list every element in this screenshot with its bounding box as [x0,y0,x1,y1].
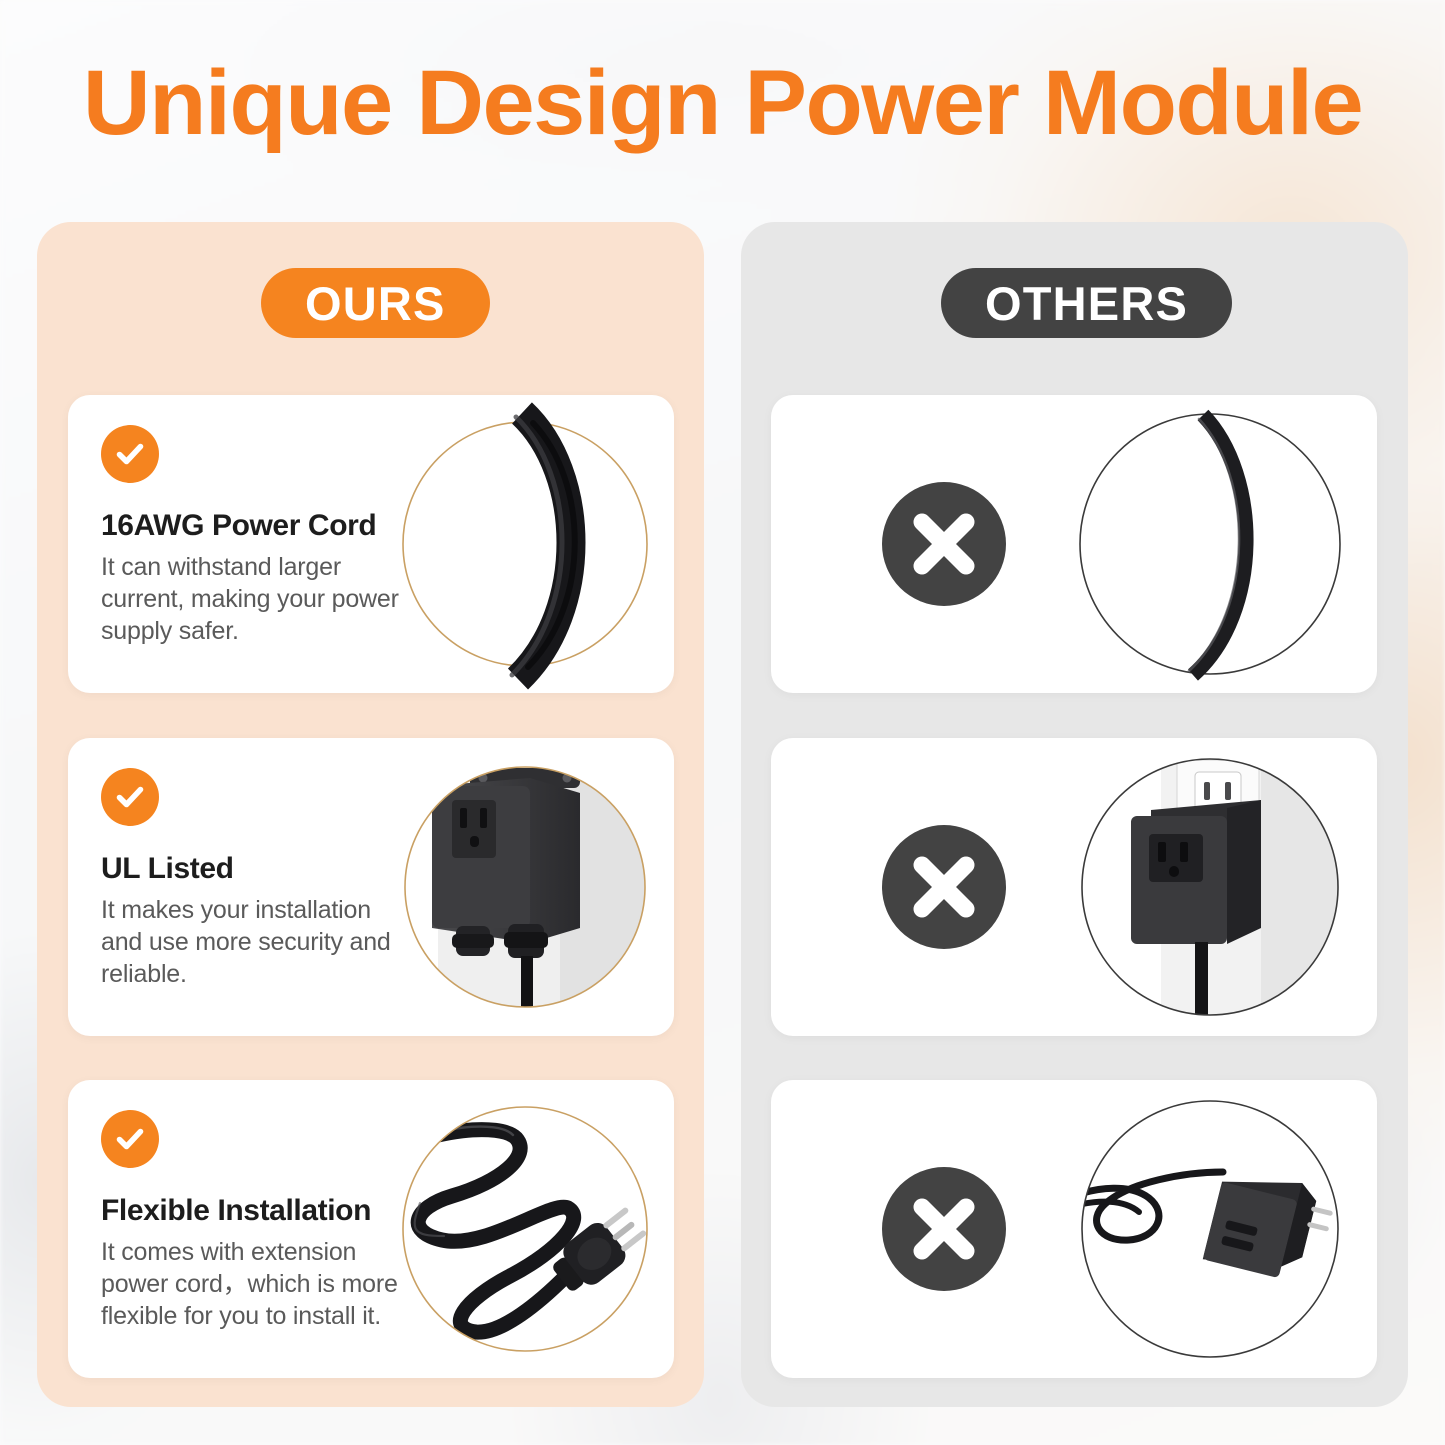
check-icon [101,425,159,483]
others-feature-card-1 [771,395,1377,693]
page-title: Unique Design Power Module [0,55,1445,152]
others-badge: OTHERS [941,268,1232,338]
check-icon [101,768,159,826]
others-badge-label: OTHERS [985,276,1188,331]
feature-text-block: Flexible Installation It comes with exte… [101,1110,411,1332]
cross-icon [882,825,1006,949]
feature-description: It can withstand larger current, making … [101,552,411,647]
cross-icon [882,482,1006,606]
feature-title: 16AWG Power Cord [101,509,411,543]
feature-title: UL Listed [101,852,411,886]
coiled-extension-cord-with-plug-image [390,1080,660,1378]
black-weatherproof-outlet-box-image [390,738,660,1036]
black-adapter-in-wall-outlet-image [1065,738,1355,1036]
feature-description: It comes with extension power cord，which… [101,1237,411,1332]
ours-feature-card-3: Flexible Installation It comes with exte… [68,1080,674,1378]
feature-text-block: 16AWG Power Cord It can withstand larger… [101,425,411,647]
others-feature-card-2 [771,738,1377,1036]
feature-title: Flexible Installation [101,1194,411,1228]
cross-icon [882,1167,1006,1291]
short-cord-plug-adapter-image [1065,1080,1355,1378]
feature-text-block: UL Listed It makes your installation and… [101,768,411,990]
ours-feature-card-1: 16AWG Power Cord It can withstand larger… [68,395,674,693]
thin-black-power-cord-image [1065,395,1355,693]
ours-badge-label: OURS [305,276,446,331]
feature-description: It makes your installation and use more … [101,895,411,990]
ours-badge: OURS [261,268,490,338]
ours-feature-card-2: UL Listed It makes your installation and… [68,738,674,1036]
others-feature-card-3 [771,1080,1377,1378]
infographic-page: Unique Design Power Module OURS OTHERS 1… [0,0,1445,1445]
check-icon [101,1110,159,1168]
thick-black-power-cord-image [390,395,660,693]
